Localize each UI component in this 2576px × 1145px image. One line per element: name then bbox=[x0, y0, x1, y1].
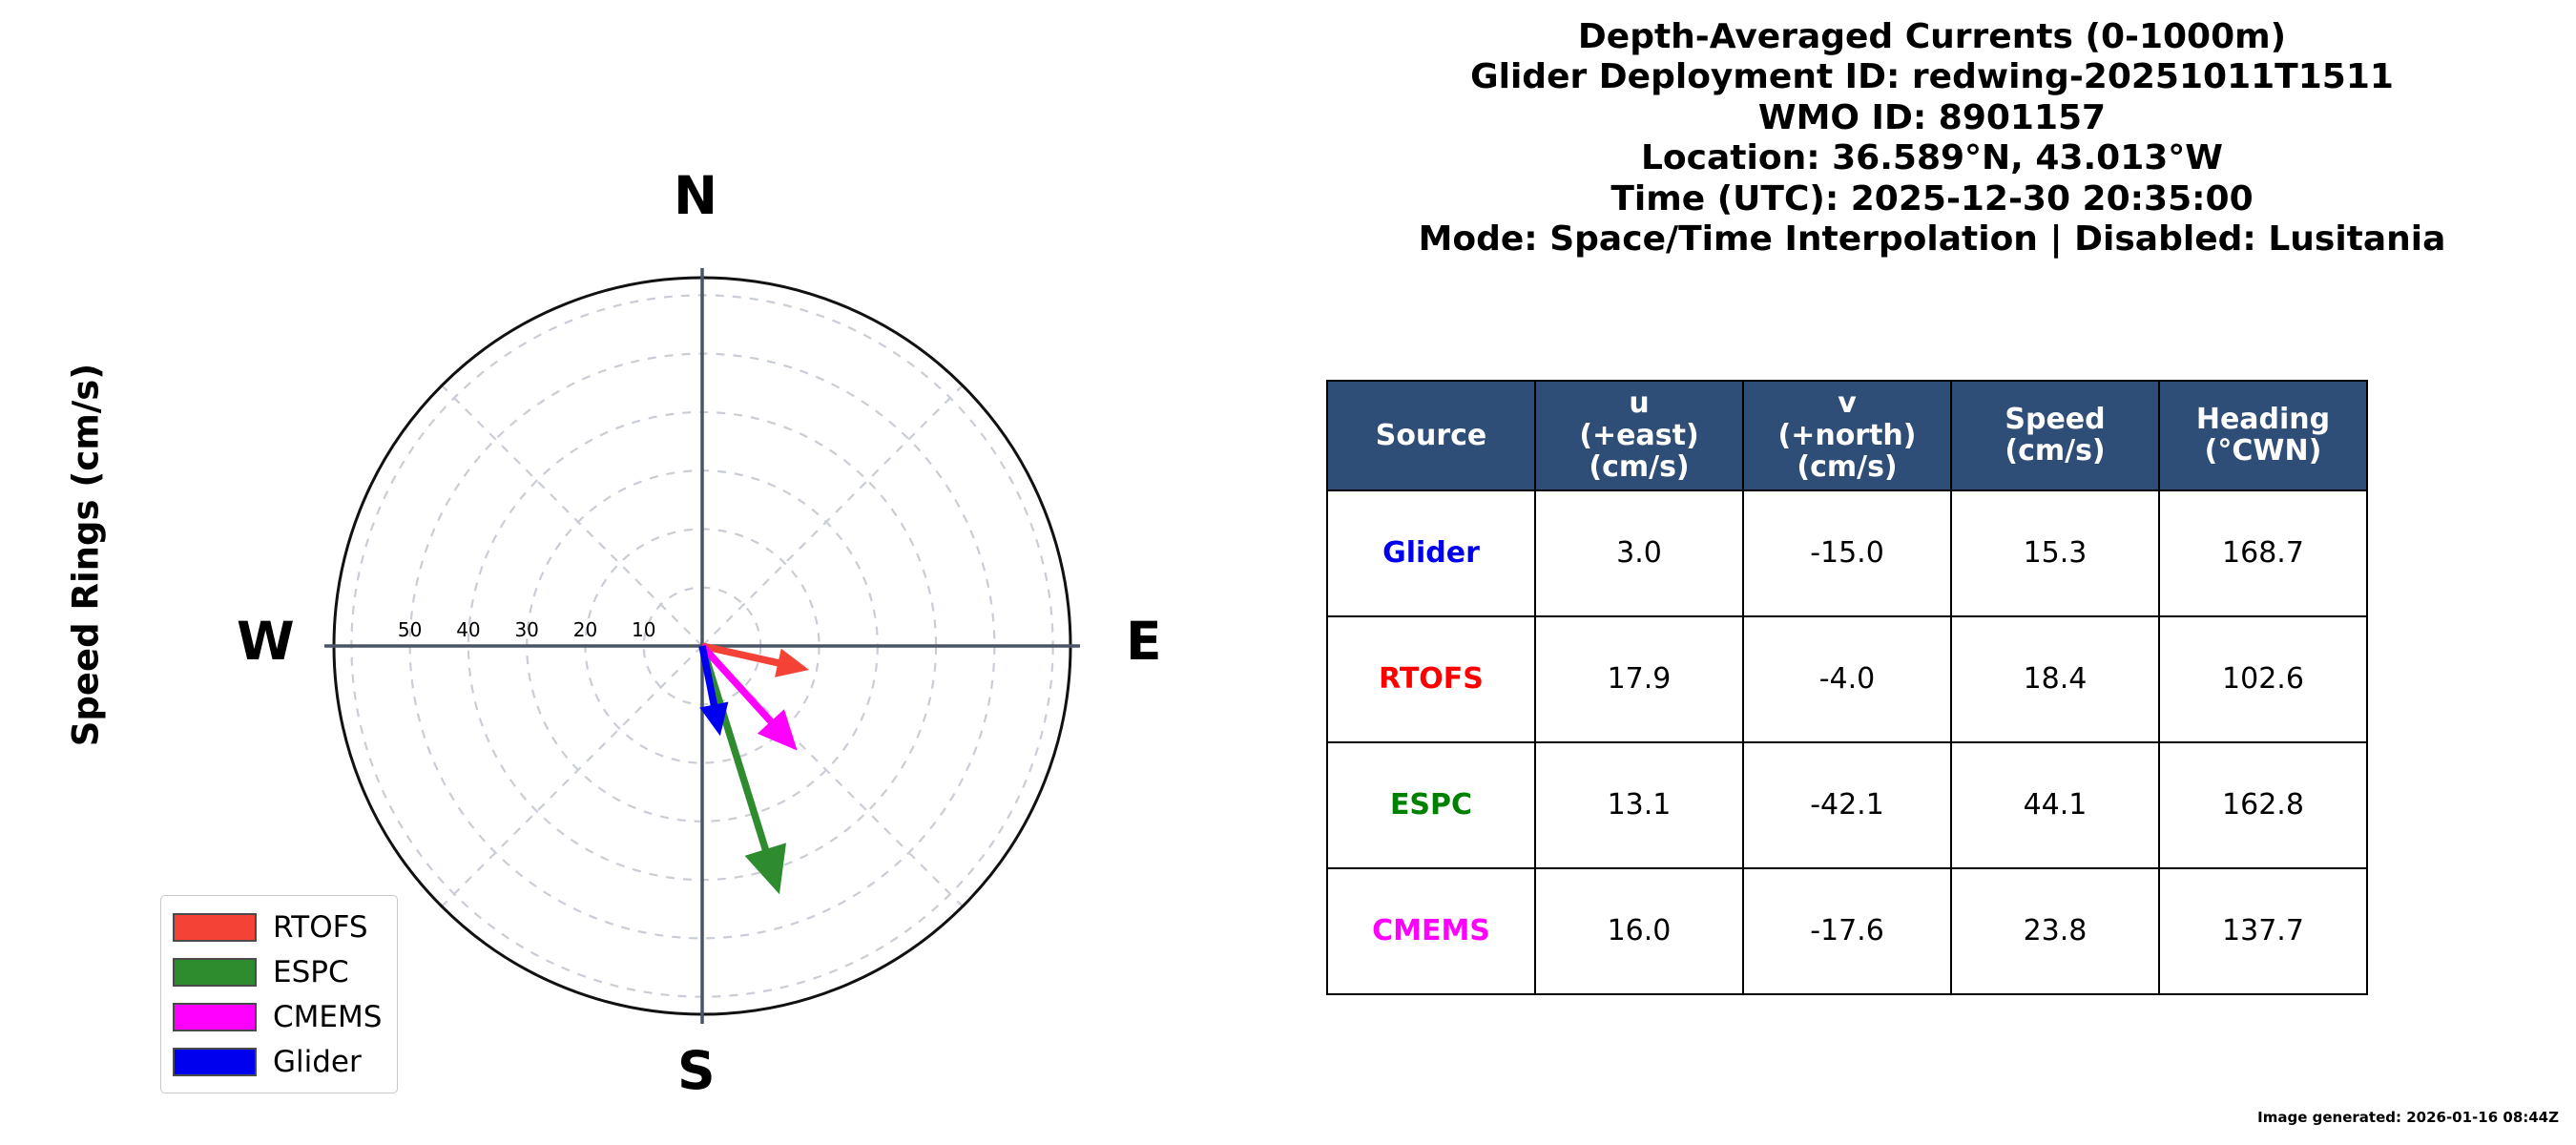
cell-heading: 162.8 bbox=[2159, 742, 2367, 868]
header-line: u bbox=[1538, 387, 1740, 420]
header-line: Source bbox=[1330, 420, 1532, 452]
header-line: (+east) bbox=[1538, 420, 1740, 452]
ring-tick-label-40: 40 bbox=[456, 618, 480, 641]
generation-timestamp: Image generated: 2026-01-16 08:44Z bbox=[2257, 1109, 2559, 1126]
cell-speed: 15.3 bbox=[1951, 490, 2159, 616]
legend-label: Glider bbox=[273, 1045, 362, 1079]
title-line-3: Location: 36.589°N, 43.013°W bbox=[1288, 138, 2576, 178]
legend-swatch-icon bbox=[173, 913, 257, 942]
legend-item-rtofs: RTOFS bbox=[173, 905, 382, 949]
arrow-head bbox=[776, 651, 806, 677]
header-line: Speed bbox=[1954, 404, 2156, 436]
cell-heading: 137.7 bbox=[2159, 868, 2367, 994]
cell-speed: 18.4 bbox=[1951, 616, 2159, 742]
legend-label: RTOFS bbox=[273, 910, 368, 945]
header-line: Heading bbox=[2162, 404, 2364, 436]
title-line-5: Mode: Space/Time Interpolation | Disable… bbox=[1288, 219, 2576, 260]
table-row: ESPC13.1-42.144.1162.8 bbox=[1327, 742, 2367, 868]
cell-speed: 23.8 bbox=[1951, 868, 2159, 994]
cardinal-label-west: W bbox=[237, 615, 295, 668]
table-column-header-2: v(+north)(cm/s) bbox=[1743, 381, 1951, 490]
cell-source: CMEMS bbox=[1327, 868, 1535, 994]
plot-legend: RTOFSESPCCMEMSGlider bbox=[160, 895, 398, 1093]
cell-u: 16.0 bbox=[1535, 868, 1743, 994]
cell-source: ESPC bbox=[1327, 742, 1535, 868]
vector-arrow-espc bbox=[702, 646, 785, 892]
legend-swatch-icon bbox=[173, 958, 257, 987]
legend-label: ESPC bbox=[273, 955, 349, 989]
cell-speed: 44.1 bbox=[1951, 742, 2159, 868]
table-row: CMEMS16.0-17.623.8137.7 bbox=[1327, 868, 2367, 994]
polar-spoke-45 bbox=[702, 385, 963, 646]
ring-tick-label-20: 20 bbox=[573, 618, 597, 641]
title-line-1: Glider Deployment ID: redwing-20251011T1… bbox=[1288, 57, 2576, 97]
cardinal-label-east: E bbox=[1126, 615, 1162, 668]
header-line: (+north) bbox=[1746, 420, 1948, 452]
legend-swatch-icon bbox=[173, 1003, 257, 1031]
table-row: Glider3.0-15.015.3168.7 bbox=[1327, 490, 2367, 616]
current-vector-arrows bbox=[701, 646, 807, 892]
currents-table: Sourceu(+east)(cm/s)v(+north)(cm/s)Speed… bbox=[1326, 380, 2368, 995]
table-row: RTOFS17.9-4.018.4102.6 bbox=[1327, 616, 2367, 742]
figure-root: 5040302010 Speed Rings (cm/s) N S W E RT… bbox=[0, 0, 2576, 1145]
legend-item-cmems: CMEMS bbox=[173, 994, 382, 1039]
info-panel: Depth-Averaged Currents (0-1000m)Glider … bbox=[1288, 0, 2576, 1145]
cell-u: 13.1 bbox=[1535, 742, 1743, 868]
arrow-head bbox=[701, 703, 727, 734]
header-line: (cm/s) bbox=[1746, 451, 1948, 484]
ring-tick-label-10: 10 bbox=[632, 618, 655, 641]
polar-spoke-315 bbox=[442, 385, 702, 646]
table-column-header-4: Heading(°CWN) bbox=[2159, 381, 2367, 490]
title-line-4: Time (UTC): 2025-12-30 20:35:00 bbox=[1288, 179, 2576, 219]
cardinal-label-south: S bbox=[677, 1045, 716, 1097]
cell-u: 3.0 bbox=[1535, 490, 1743, 616]
arrow-head bbox=[746, 844, 784, 892]
table-body: Glider3.0-15.015.3168.7RTOFS17.9-4.018.4… bbox=[1327, 490, 2367, 994]
cell-source: RTOFS bbox=[1327, 616, 1535, 742]
polar-spoke-225 bbox=[442, 646, 702, 906]
ring-tick-label-30: 30 bbox=[514, 618, 538, 641]
header-line: (cm/s) bbox=[1954, 435, 2156, 468]
header-line: (°CWN) bbox=[2162, 435, 2364, 468]
table-header-row: Sourceu(+east)(cm/s)v(+north)(cm/s)Speed… bbox=[1327, 381, 2367, 490]
title-block: Depth-Averaged Currents (0-1000m)Glider … bbox=[1288, 17, 2576, 260]
table-column-header-0: Source bbox=[1327, 381, 1535, 490]
cell-heading: 102.6 bbox=[2159, 616, 2367, 742]
table-column-header-3: Speed(cm/s) bbox=[1951, 381, 2159, 490]
title-line-0: Depth-Averaged Currents (0-1000m) bbox=[1288, 17, 2576, 57]
cardinal-label-north: N bbox=[674, 170, 717, 222]
header-line: (cm/s) bbox=[1538, 451, 1740, 484]
cell-source: Glider bbox=[1327, 490, 1535, 616]
ring-tick-label-50: 50 bbox=[398, 618, 422, 641]
cell-v: -4.0 bbox=[1743, 616, 1951, 742]
header-line: v bbox=[1746, 387, 1948, 420]
polar-plot-panel: 5040302010 Speed Rings (cm/s) N S W E RT… bbox=[0, 0, 1288, 1145]
cell-v: -42.1 bbox=[1743, 742, 1951, 868]
cell-v: -17.6 bbox=[1743, 868, 1951, 994]
legend-swatch-icon bbox=[173, 1048, 257, 1076]
ring-tick-labels: 5040302010 bbox=[398, 618, 656, 641]
legend-label: CMEMS bbox=[273, 1000, 382, 1034]
cell-u: 17.9 bbox=[1535, 616, 1743, 742]
title-line-2: WMO ID: 8901157 bbox=[1288, 98, 2576, 138]
legend-item-espc: ESPC bbox=[173, 949, 382, 994]
currents-table-wrapper: Sourceu(+east)(cm/s)v(+north)(cm/s)Speed… bbox=[1326, 380, 2366, 995]
cell-v: -15.0 bbox=[1743, 490, 1951, 616]
cell-heading: 168.7 bbox=[2159, 490, 2367, 616]
table-column-header-1: u(+east)(cm/s) bbox=[1535, 381, 1743, 490]
table-header: Sourceu(+east)(cm/s)v(+north)(cm/s)Speed… bbox=[1327, 381, 2367, 490]
polar-y-axis-label: Speed Rings (cm/s) bbox=[66, 336, 107, 775]
legend-item-glider: Glider bbox=[173, 1039, 382, 1084]
